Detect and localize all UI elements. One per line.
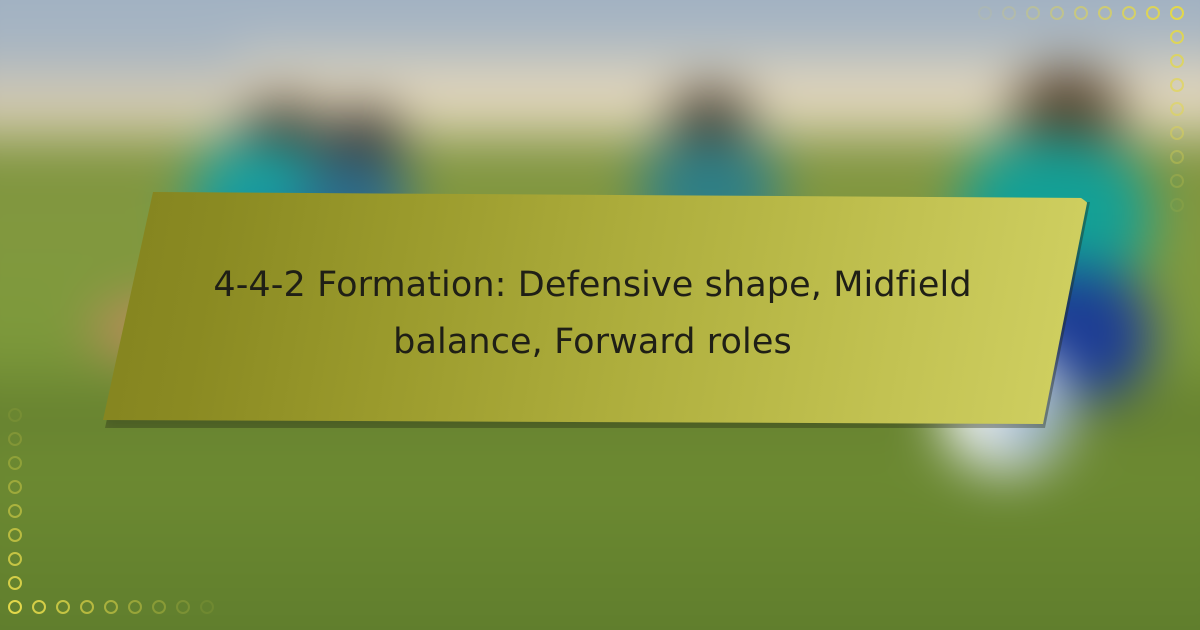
- decorative-circle: [8, 600, 22, 614]
- decorative-circle: [80, 600, 94, 614]
- decorative-circle: [8, 456, 22, 470]
- title-card-content: 4-4-2 Formation: Defensive shape, Midfie…: [95, 192, 1100, 436]
- decorative-circle: [8, 408, 22, 422]
- decorative-circle: [8, 552, 22, 566]
- decorative-circle: [200, 600, 214, 614]
- poster-canvas: 4-4-2 Formation: Defensive shape, Midfie…: [0, 0, 1200, 630]
- decorative-circle: [8, 576, 22, 590]
- decorative-circle: [104, 600, 118, 614]
- decorative-circle: [8, 480, 22, 494]
- decorative-circle: [32, 600, 46, 614]
- decorative-circle: [152, 600, 166, 614]
- decorative-circle: [8, 528, 22, 542]
- page-title: 4-4-2 Formation: Defensive shape, Midfie…: [213, 257, 973, 370]
- decorative-circle: [8, 504, 22, 518]
- decorative-circle: [128, 600, 142, 614]
- decorative-circle: [176, 600, 190, 614]
- title-card: 4-4-2 Formation: Defensive shape, Midfie…: [95, 192, 1100, 436]
- decorative-circle: [8, 432, 22, 446]
- decorative-circle: [56, 600, 70, 614]
